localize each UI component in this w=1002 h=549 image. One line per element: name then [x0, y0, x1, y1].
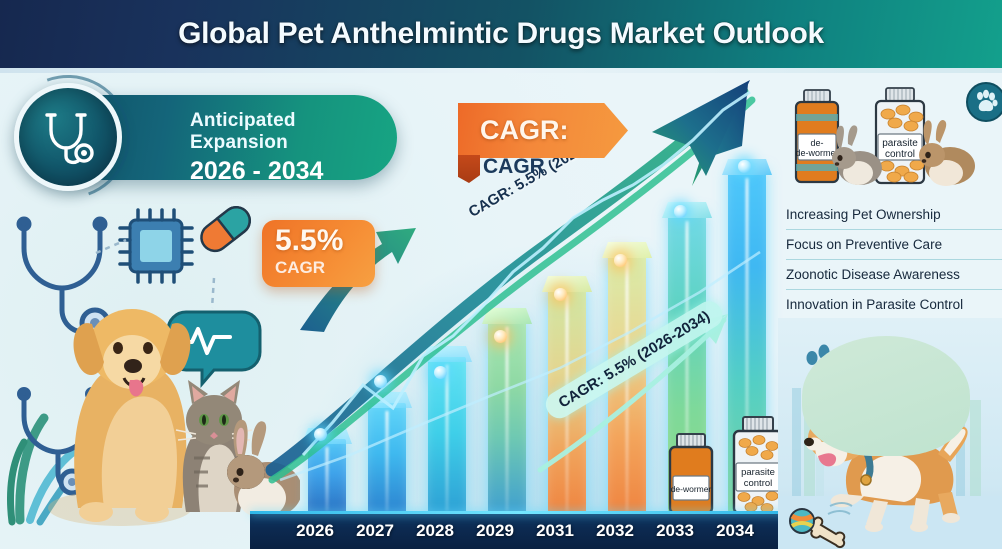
axis-label-2033: 2033: [647, 521, 703, 541]
capsule-pill-icon: [196, 202, 255, 257]
chart-bottle-1-label: de-wormer: [671, 484, 712, 494]
stethoscope-icon: [19, 219, 108, 336]
page-title: Global Pet Anthelmintic Drugs Market Out…: [178, 17, 824, 51]
rabbit: [919, 120, 975, 186]
bottle-dewormer: de- de-wormer: [795, 90, 838, 182]
driver-item-1: Increasing Pet Ownership: [786, 200, 1002, 230]
cagr-value-label: CAGR: [275, 258, 375, 278]
header-bar: Global Pet Anthelmintic Drugs Market Out…: [0, 0, 1002, 68]
axis-baseline: [250, 511, 790, 514]
products-illustration: de- de-wormer parasite control: [778, 76, 1002, 196]
cagr-value: 5.5%: [275, 226, 375, 256]
infographic-canvas: Global Pet Anthelmintic Drugs Market Out…: [0, 0, 1002, 549]
data-node-2028: [434, 366, 447, 379]
axis-label-2032: 2032: [587, 521, 643, 541]
chart-bottle-dewormer: de-wormer: [663, 432, 719, 514]
driver-item-2: Focus on Preventive Care: [786, 230, 1002, 260]
bottle-1-label: de-wormer: [795, 148, 838, 158]
chart-bottle-2-label-2: control: [744, 478, 773, 489]
data-node-2027: [374, 375, 387, 388]
bar-2028: [428, 357, 466, 515]
svg-text:de-: de-: [810, 138, 823, 148]
data-node-2032: [614, 254, 627, 267]
data-node-2034: [738, 160, 751, 173]
bar-2029: [488, 319, 526, 515]
bar-2027: [368, 403, 406, 515]
cagr-ribbon: CAGR:: [458, 103, 628, 158]
axis-label-2026: 2026: [287, 521, 343, 541]
cagr-value-badge: 5.5% CAGR: [262, 220, 375, 287]
axis-label-2031: 2031: [527, 521, 583, 541]
data-node-2033: [674, 205, 687, 218]
market-drivers-list: Increasing Pet Ownership Focus on Preven…: [786, 200, 1002, 319]
cagr-ribbon-label: CAGR:: [480, 115, 569, 146]
bar-2026: [308, 439, 346, 515]
axis-label-2029: 2029: [467, 521, 523, 541]
playing-dog-illustration: [778, 318, 1002, 549]
bottle-parasite-control: parasite control: [876, 88, 924, 183]
paw-print-icon: [966, 82, 1002, 122]
axis-label-2028: 2028: [407, 521, 463, 541]
cagr-ribbon-sublabel: CAGR: [483, 155, 545, 179]
driver-item-4: Innovation in Parasite Control: [786, 290, 1002, 319]
data-node-2029: [494, 330, 507, 343]
ball-toy-icon: [790, 509, 814, 533]
connector-line: [212, 278, 214, 308]
axis-label-2027: 2027: [347, 521, 403, 541]
bottle-2-label-2: control: [885, 149, 915, 160]
stethoscope-icon: [14, 83, 122, 191]
data-node-2031: [554, 288, 567, 301]
axis-label-2034: 2034: [707, 521, 763, 541]
rabbit: [832, 125, 882, 185]
bottle-2-label-1: parasite: [882, 138, 918, 149]
driver-item-3: Zoonotic Disease Awareness: [786, 260, 1002, 290]
chart-bottle-2-label-1: parasite: [741, 467, 775, 478]
data-node-2026: [314, 428, 327, 441]
microchip-icon: [120, 210, 192, 282]
